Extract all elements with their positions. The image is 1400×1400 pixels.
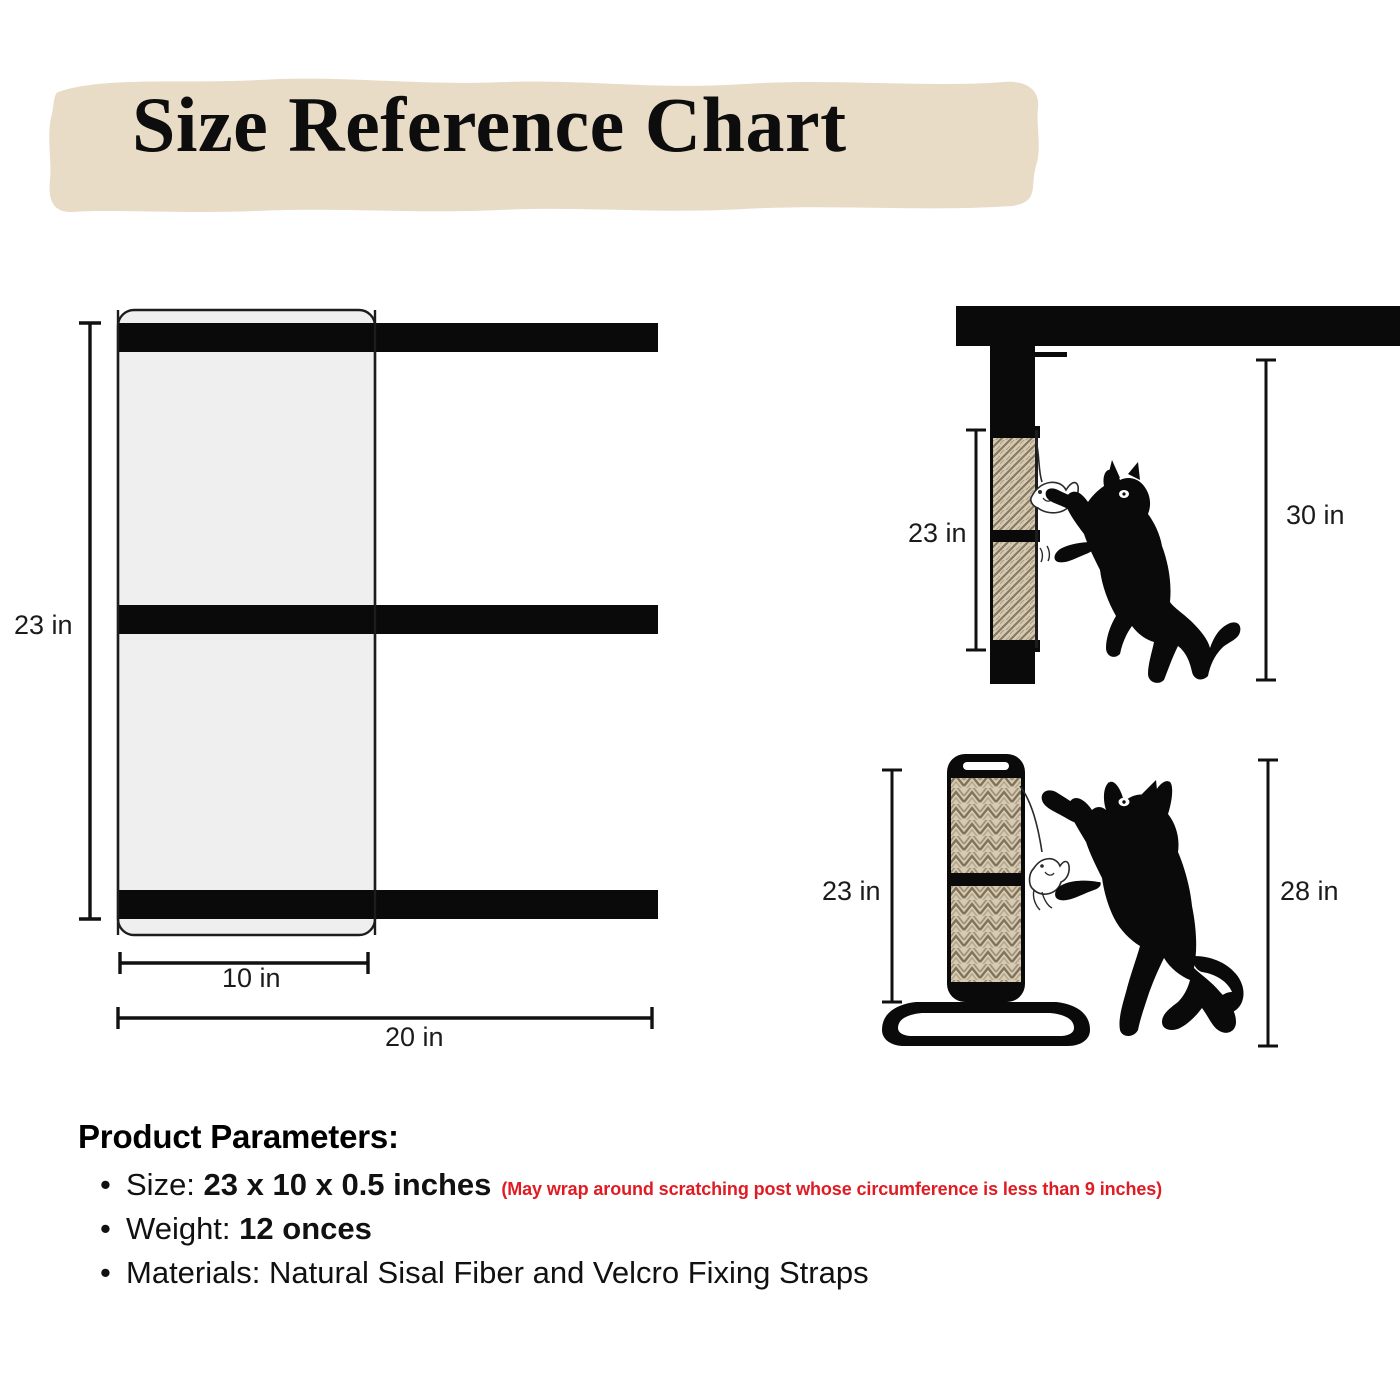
spec-size-label: Size: — [126, 1167, 195, 1202]
spec-size-value: 23 x 10 x 0.5 inches — [204, 1167, 492, 1202]
spec-weight-value: 12 onces — [239, 1211, 372, 1246]
spec-item-weight: •Weight: 12 onces — [78, 1207, 1368, 1251]
spec-materials-label: Materials: — [126, 1255, 260, 1290]
strap-top — [118, 323, 658, 352]
bullet-icon: • — [100, 1207, 111, 1251]
table-leg-mat-height-label: 23 in — [908, 518, 967, 549]
post-mat-height-label: 23 in — [822, 876, 881, 907]
tabletop-bar — [956, 306, 1400, 346]
cat-silhouette — [1042, 780, 1244, 1036]
flat-mat-width-label: 10 in — [222, 963, 281, 994]
sisal-panel-upper — [951, 778, 1021, 873]
post-top-slot — [963, 762, 1009, 770]
dimension-line-mat-height — [882, 770, 902, 1002]
product-parameters-list: •Size: 23 x 10 x 0.5 inches(May wrap aro… — [78, 1163, 1368, 1295]
leg-tick — [1035, 352, 1067, 357]
strap-middle — [990, 530, 1040, 542]
strap-middle — [118, 605, 658, 634]
table-leg-height-label: 30 in — [1286, 500, 1345, 531]
dimension-line-post-height — [1258, 760, 1278, 1046]
product-parameters-heading: Product Parameters: — [78, 1118, 1368, 1156]
post-base-inner — [898, 1013, 1074, 1036]
spec-item-materials: •Materials: Natural Sisal Fiber and Velc… — [78, 1251, 1368, 1295]
page-title: Size Reference Chart — [132, 86, 992, 164]
spec-size-note: (May wrap around scratching post whose c… — [491, 1179, 1162, 1199]
bullet-icon: • — [100, 1251, 111, 1295]
flat-mat-height-label: 23 in — [14, 610, 73, 641]
strap-bottom — [990, 640, 1040, 652]
spec-weight-label: Weight: — [126, 1211, 231, 1246]
motion-marks — [1040, 546, 1049, 562]
sisal-panel-lower — [951, 886, 1021, 982]
strap-top — [990, 426, 1040, 438]
post-height-label: 28 in — [1280, 876, 1339, 907]
spec-item-size: •Size: 23 x 10 x 0.5 inches(May wrap aro… — [78, 1163, 1368, 1207]
dimension-line-mat-height — [966, 430, 986, 650]
strap-bottom — [118, 890, 658, 919]
bullet-icon: • — [100, 1163, 111, 1207]
dimension-line-leg-height — [1256, 360, 1276, 680]
flat-mat-span-label: 20 in — [385, 1022, 444, 1053]
product-parameters-section: Product Parameters: •Size: 23 x 10 x 0.5… — [78, 1118, 1368, 1295]
cat-silhouette — [1046, 460, 1241, 683]
spec-materials-value: Natural Sisal Fiber and Velcro Fixing St… — [269, 1255, 869, 1290]
dimension-line-height — [79, 323, 101, 919]
flat-scratching-mat-diagram — [0, 290, 700, 1080]
mat-wrapped-scratching-post-diagram — [820, 740, 1360, 1080]
mat-edge-line — [1035, 430, 1038, 648]
strap-middle — [947, 873, 1025, 886]
